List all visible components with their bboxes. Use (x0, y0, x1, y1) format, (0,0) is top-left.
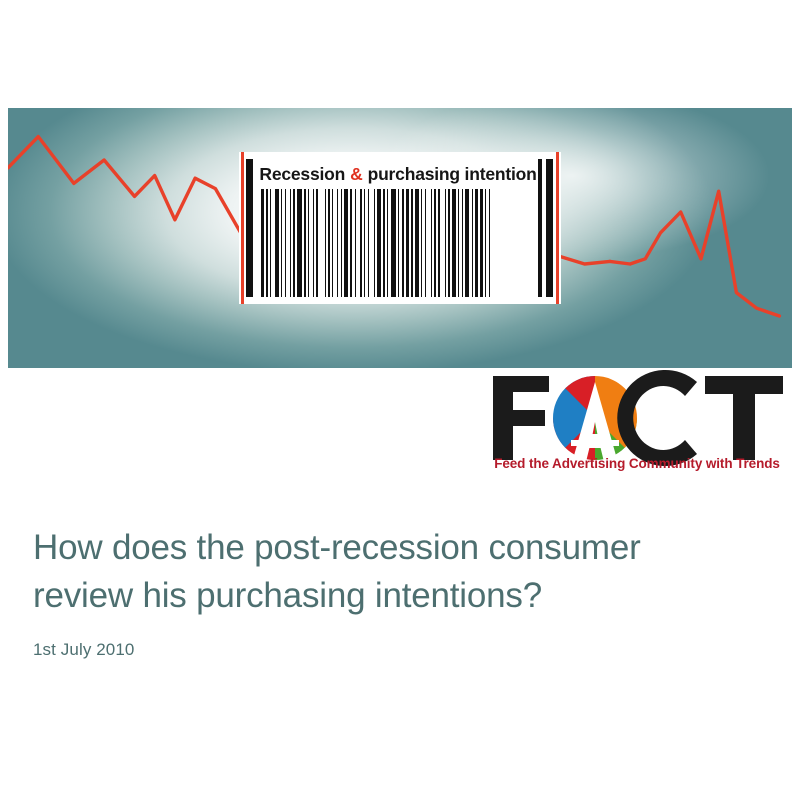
barcode-bar (261, 189, 264, 297)
presentation-date: 1st July 2010 (33, 640, 763, 660)
barcode-bar (368, 189, 369, 297)
barcode-bar (387, 189, 388, 297)
barcode-bar (458, 189, 459, 297)
barcode-bar (364, 189, 365, 297)
barcode-guard-bar-right (546, 159, 553, 297)
logo-letter-t (705, 376, 783, 460)
barcode-title-ampersand: & (350, 164, 362, 185)
barcode-bar (462, 189, 463, 297)
barcode-bar (485, 189, 486, 297)
barcode-bar (266, 189, 268, 297)
title-block: How does the post-recession consumer rev… (33, 524, 763, 660)
barcode-bar (425, 189, 426, 297)
barcode-bar (431, 189, 432, 297)
barcode-bar (448, 189, 450, 297)
barcode-bar (391, 189, 396, 297)
barcode-bar (472, 189, 473, 297)
barcode-bar (344, 189, 348, 297)
barcode-bar (293, 189, 295, 297)
barcode-bar (402, 189, 403, 297)
barcode-bar (360, 189, 362, 297)
barcode-bar (398, 189, 399, 297)
barcode-bar (438, 189, 440, 297)
barcode-title: Recession & purchasing intention (261, 160, 535, 188)
barcode-bar (313, 189, 314, 297)
barcode-bar (445, 189, 446, 297)
barcode-bar (316, 189, 318, 297)
barcode-bar (290, 189, 291, 297)
barcode-bar (377, 189, 380, 297)
barcode-title-prefix: Recession (259, 164, 345, 185)
logo-letter-f (493, 376, 549, 460)
page-title: How does the post-recession consumer rev… (33, 524, 763, 620)
barcode-bar (415, 189, 419, 297)
barcode-bar (489, 189, 490, 297)
barcode-bar (480, 189, 482, 297)
barcode-rail-left-icon (241, 152, 244, 304)
barcode-bar (308, 189, 309, 297)
barcode-bar (285, 189, 286, 297)
barcode-bar (374, 189, 375, 297)
barcode-bar (297, 189, 301, 297)
fact-logo: Feed the Advertising Community with Tren… (487, 370, 787, 478)
fact-logo-tagline: Feed the Advertising Community with Tren… (487, 456, 787, 471)
barcode-bar (355, 189, 356, 297)
trendline-right-polyline (610, 191, 780, 316)
barcode-guard-bar-left (246, 159, 253, 297)
barcode-bar (350, 189, 351, 297)
barcode-graphic: Recession & purchasing intention (239, 152, 561, 304)
barcode-bar (383, 189, 385, 297)
page-title-line-2: review his purchasing intentions? (33, 572, 763, 620)
barcode-bar (325, 189, 326, 297)
barcode-bars (261, 189, 534, 297)
barcode-bar (341, 189, 342, 297)
barcode-bar (332, 189, 333, 297)
barcode-title-suffix: purchasing intention (368, 164, 537, 185)
logo-letter-c (617, 370, 697, 466)
barcode-bar (475, 189, 478, 297)
slide-root: { "slide": { "background_color": "#fffff… (0, 0, 800, 800)
barcode-guard-bar-right-inner (538, 159, 542, 297)
barcode-bar (337, 189, 338, 297)
barcode-bar (452, 189, 455, 297)
barcode-bar (275, 189, 279, 297)
barcode-bar (465, 189, 469, 297)
page-title-line-1: How does the post-recession consumer (33, 524, 763, 572)
barcode-rail-right-icon (556, 152, 559, 304)
barcode-bar (281, 189, 282, 297)
barcode-bar (421, 189, 422, 297)
barcode-bar (270, 189, 271, 297)
barcode-bar (328, 189, 330, 297)
barcode-bar (304, 189, 306, 297)
barcode-bar (411, 189, 413, 297)
barcode-bar (434, 189, 436, 297)
barcode-bar (406, 189, 409, 297)
